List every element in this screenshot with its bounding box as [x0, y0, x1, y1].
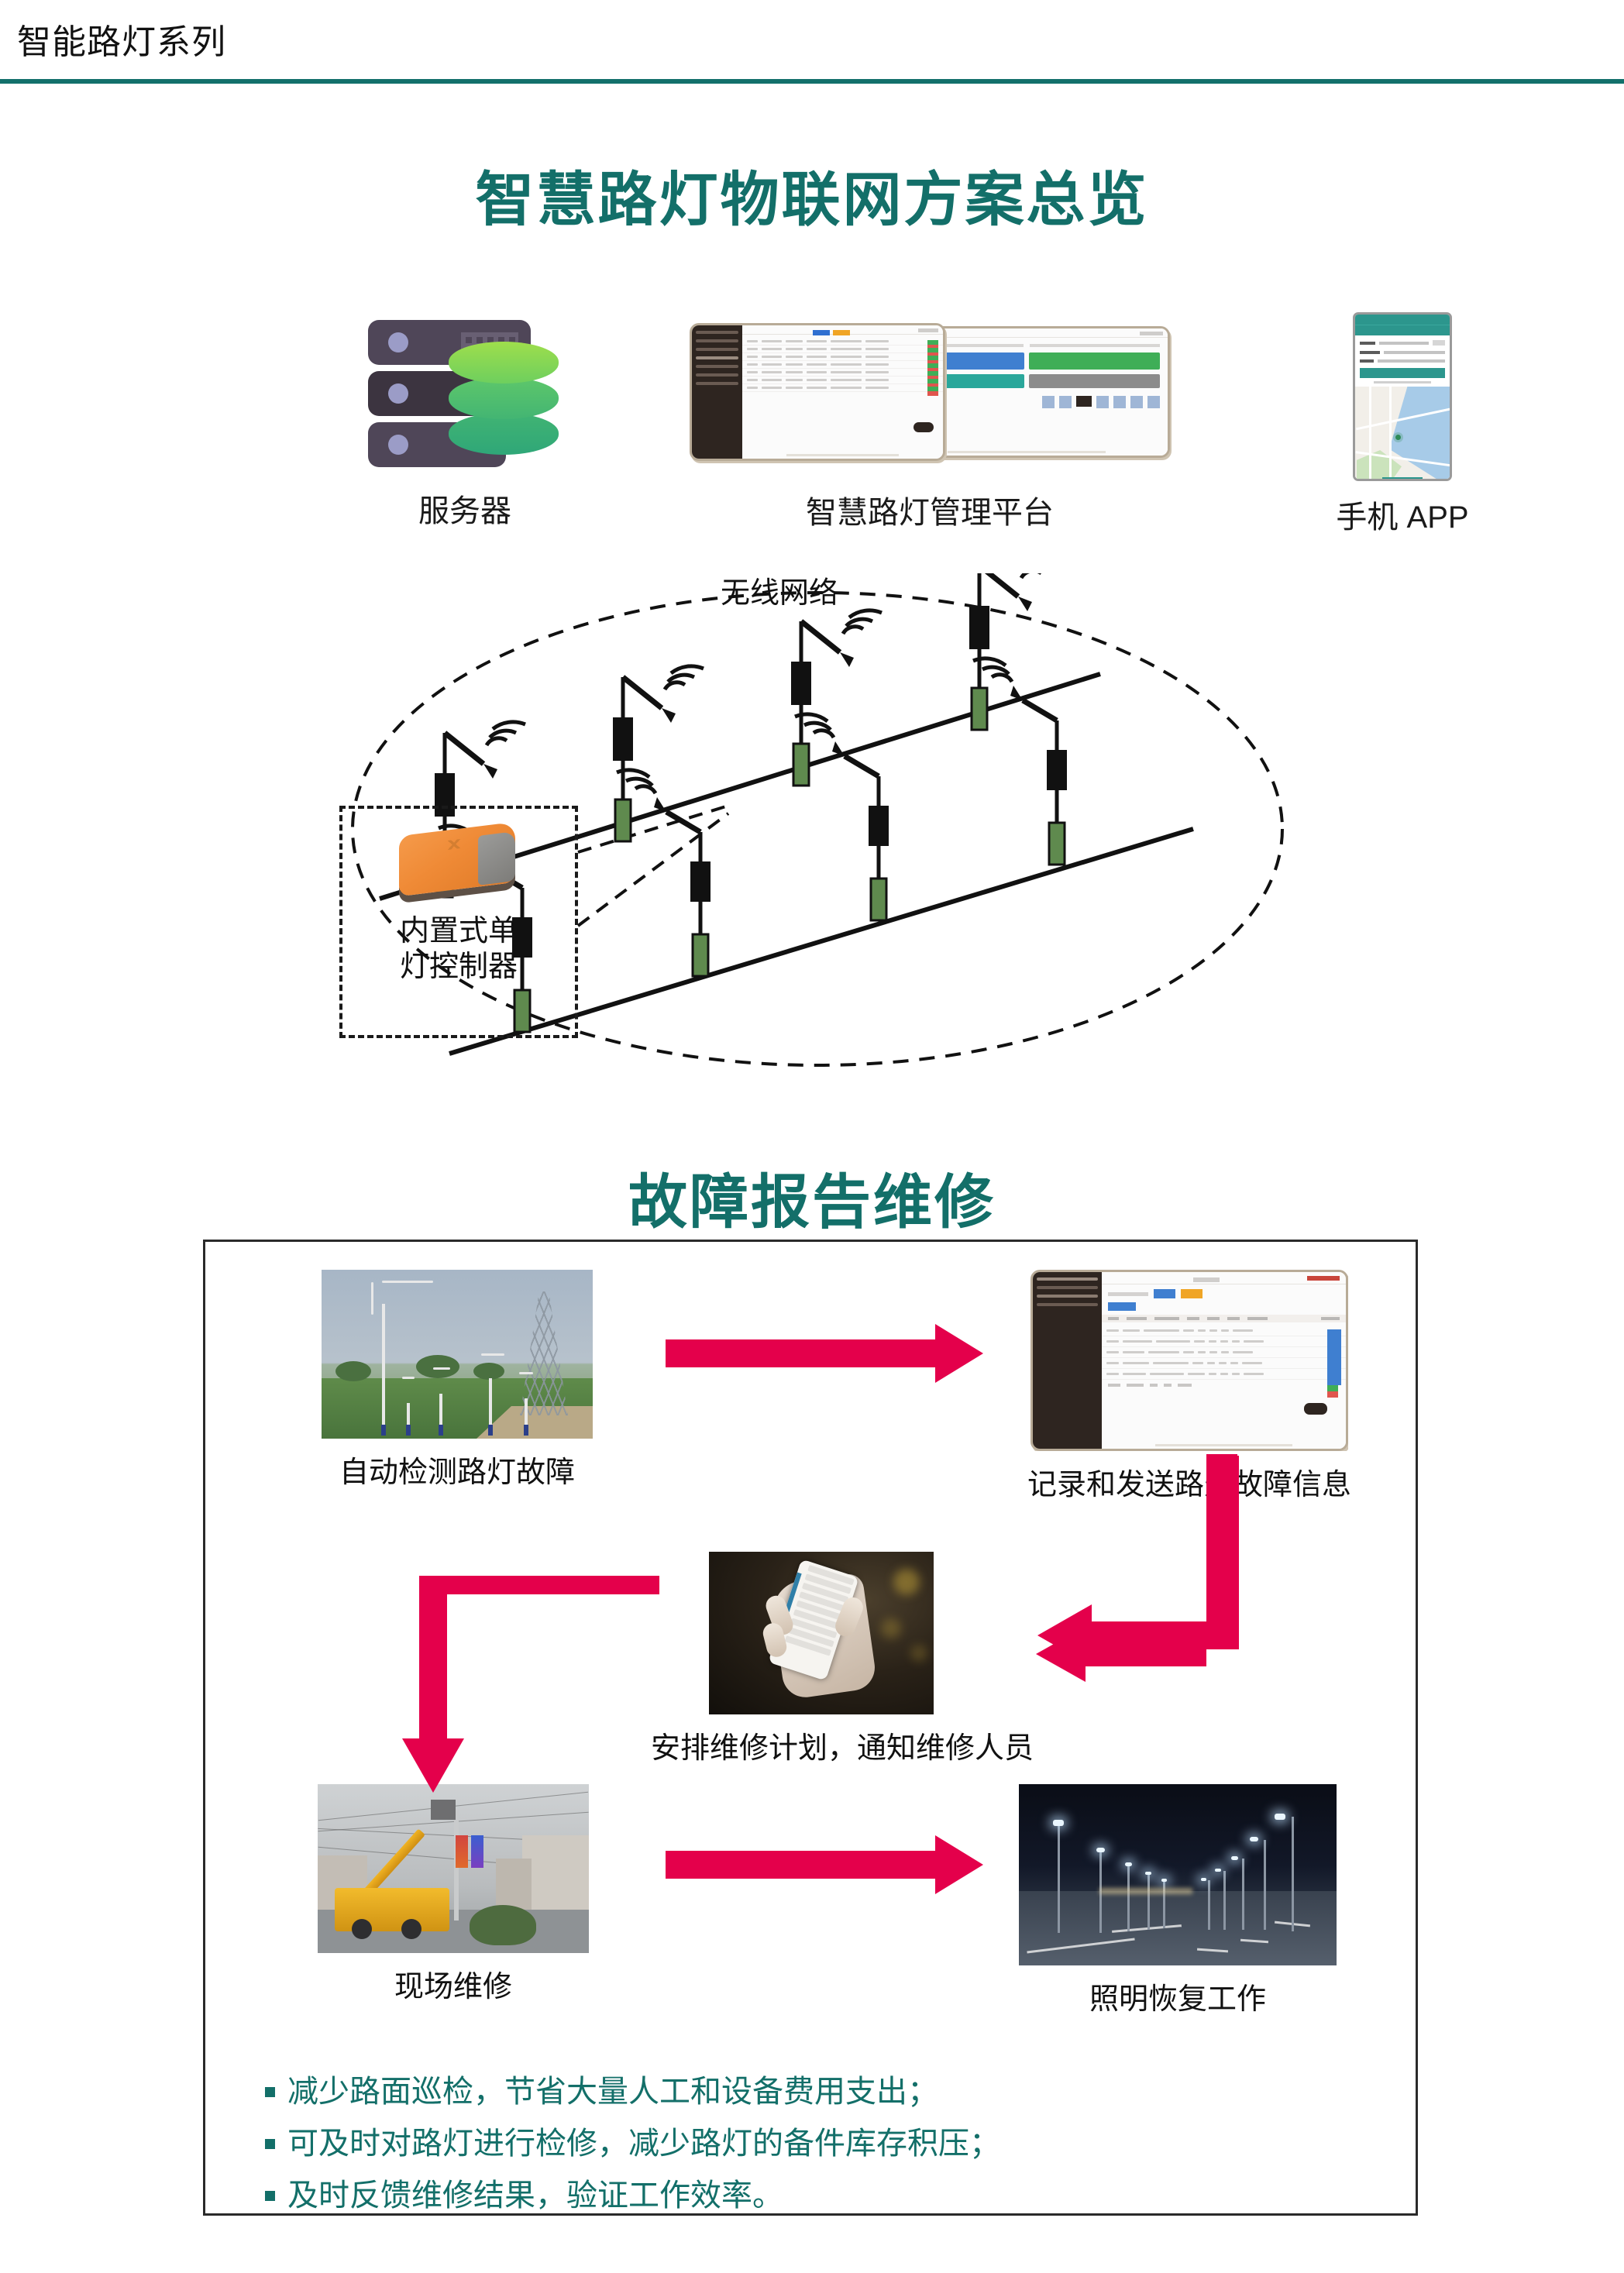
street-lamp — [613, 666, 704, 841]
platform-sidebar — [692, 325, 742, 459]
arrow-detect-to-record — [662, 1319, 988, 1389]
device-label-server: 服务器 — [294, 486, 635, 531]
server-icon — [368, 320, 562, 475]
fault-section-title: 故障报告维修 — [0, 1154, 1624, 1240]
phone-primary-button[interactable] — [1360, 368, 1445, 378]
device-label-app: 手机 APP — [1255, 492, 1550, 537]
page-root: 智能路灯系列 智慧路灯物联网方案总览 服务器 — [0, 0, 1624, 2273]
workflow-step-detect: 自动检测路灯故障 — [294, 1270, 620, 1491]
server-led-icon — [388, 435, 408, 455]
header-title: 智能路灯系列 — [17, 14, 226, 64]
controller-label: 内置式单 灯控制器 — [400, 913, 518, 985]
arrow-record-to-plan — [1027, 1451, 1259, 1707]
laptop-dashboard-icon — [690, 322, 1170, 476]
bullet-square-icon — [265, 2139, 275, 2149]
fault-workflow-panel: 自动检测路灯故障 — [203, 1240, 1418, 2216]
benefit-item: 及时反馈维修结果，验证工作效率。 — [265, 2177, 1272, 2215]
bullet-square-icon — [265, 2087, 275, 2097]
bullet-square-icon — [265, 2191, 275, 2201]
server-led-icon — [388, 383, 408, 404]
workflow-caption-detect: 自动检测路灯故障 — [294, 1448, 620, 1491]
database-cylinder-icon — [449, 342, 559, 458]
management-platform-screenshot — [1030, 1270, 1348, 1451]
server-led-icon — [388, 332, 408, 352]
benefit-item: 可及时对路灯进行检修，减少路灯的备件库存积压； — [265, 2125, 1272, 2163]
controller-callout-box: 内置式单 灯控制器 — [339, 806, 578, 1038]
phone-search-bar — [1355, 325, 1450, 335]
workflow-caption-repair: 现场维修 — [291, 1962, 616, 2005]
arrow-plan-to-repair — [399, 1571, 662, 1804]
night-road-lit-photo — [1019, 1784, 1337, 1965]
arrow-repair-to-restore — [662, 1831, 988, 1900]
workflow-caption-plan: 安排维修计划，通知维修人员 — [651, 1724, 992, 1766]
workflow-step-restore: 照明恢复工作 — [984, 1784, 1371, 2017]
wireless-network-label: 无线网络 — [721, 569, 838, 611]
benefit-text: 及时反馈维修结果，验证工作效率。 — [287, 2177, 783, 2215]
phone-status-bar — [1355, 315, 1450, 325]
laptop-primary-screen — [690, 323, 945, 461]
wireless-network-diagram: 无线网络 内置式单 灯控制器 — [186, 573, 1441, 1085]
single-lamp-controller-icon — [393, 823, 525, 904]
workflow-caption-restore: 照明恢复工作 — [984, 1975, 1371, 2017]
street-lamp — [791, 610, 882, 786]
benefits-list: 减少路面巡检，节省大量人工和设备费用支出； 可及时对路灯进行检修，减少路灯的备件… — [265, 2073, 1272, 2228]
document-header: 智能路灯系列 — [0, 0, 1624, 84]
benefit-text: 减少路面巡检，节省大量人工和设备费用支出； — [287, 2073, 938, 2111]
phone-map[interactable] — [1355, 387, 1450, 481]
workflow-step-repair: 现场维修 — [291, 1784, 616, 2005]
benefit-text: 可及时对路灯进行检修，减少路灯的备件库存积压； — [287, 2125, 1000, 2163]
overview-section-title: 智慧路灯物联网方案总览 — [0, 152, 1624, 237]
device-mobile-app: 手机 APP — [1255, 306, 1550, 537]
platform-table — [742, 335, 943, 392]
hand-holding-phone-photo — [709, 1552, 934, 1714]
device-platform: 智慧路灯管理平台 — [682, 306, 1178, 532]
benefit-item: 减少路面巡检，节省大量人工和设备费用支出； — [265, 2073, 1272, 2111]
mouse-icon — [913, 422, 934, 432]
streetlamps-field-photo — [322, 1270, 593, 1439]
street-lamp — [969, 573, 1060, 730]
device-server: 服务器 — [294, 306, 635, 531]
map-pin-icon — [1395, 435, 1401, 440]
phone-form — [1355, 335, 1450, 363]
device-label-platform: 智慧路灯管理平台 — [682, 487, 1178, 532]
mobile-app-icon — [1353, 312, 1452, 481]
workflow-step-plan: 安排维修计划，通知维修人员 — [651, 1552, 992, 1766]
phone-bottom-button[interactable] — [1382, 477, 1423, 481]
crane-repair-photo — [318, 1784, 589, 1953]
